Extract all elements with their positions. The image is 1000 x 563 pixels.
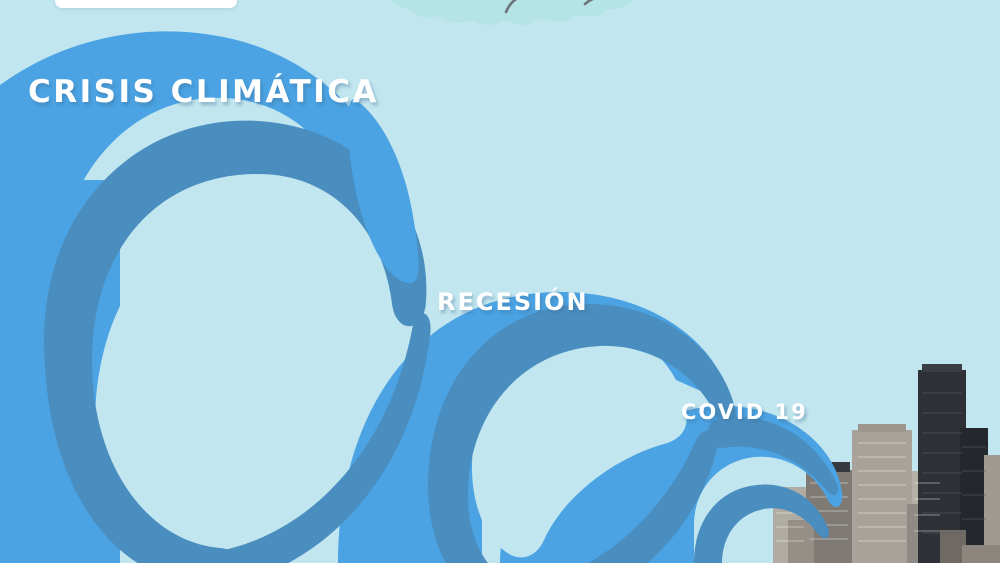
wave-large-crest-tip: [348, 99, 419, 283]
slide-canvas: CRISIS CLIMÁTICA RECESIÓN COVID 19: [0, 0, 1000, 563]
toolbar-chip[interactable]: [55, 0, 237, 8]
wave-large: [0, 0, 1000, 563]
